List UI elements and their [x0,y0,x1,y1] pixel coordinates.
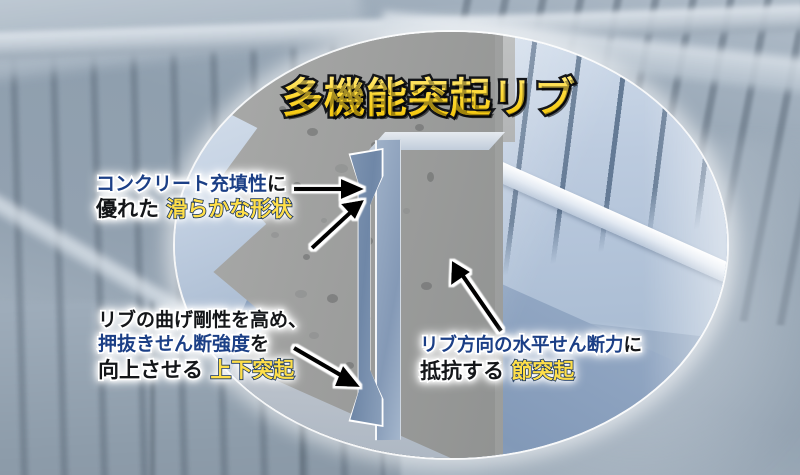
annotation-text-yellow: 上下突起 [210,358,294,382]
annotation-text-white: 抵抗する [420,359,511,383]
annotation-text-blue: 押抜きせん断強度 [98,333,250,355]
annotation-text-white: 優れた [96,197,166,221]
annotation-text-blue: リブ方向の水平せん断力 [420,335,624,356]
annotation-top-bottom-protrusion: リブの曲げ剛性を高め、 押抜きせん断強度を 向上させる 上下突起 [98,308,307,384]
annotation-text-yellow: 滑らかな形状 [166,197,292,221]
annotation-text-yellow: 節突起 [511,359,574,383]
annotation-line: リブ方向の水平せん断力に [420,334,642,358]
annotation-text-white: に [267,173,286,195]
annotation-text-blue: コンクリート充填性 [96,173,267,195]
rib-profile-shape [349,150,383,425]
annotation-line: 押抜きせん断強度を [98,332,307,356]
annotation-line: リブの曲げ剛性を高め、 [98,308,307,332]
rib-cross-section [349,150,383,425]
annotation-text-white: 向上させる [98,358,210,382]
annotation-line: コンクリート充填性に [96,172,292,196]
annotation-smooth-shape: コンクリート充填性に 優れた 滑らかな形状 [96,172,292,223]
annotation-node-protrusion: リブ方向の水平せん断力に 抵抗する 節突起 [420,334,642,385]
page-title-fill: 多機能突起リブ [282,64,576,124]
illustration-canvas: 多機能突起リブ 多機能突起リブ コンクリート充填性に 優れた 滑らかな形状 リブ… [0,0,800,475]
annotation-text-white: リブの曲げ剛性を高め、 [98,309,307,331]
annotation-line: 抵抗する 節突起 [420,358,642,385]
annotation-line: 優れた 滑らかな形状 [96,196,292,223]
annotation-text-white: を [250,333,269,355]
page-title: 多機能突起リブ 多機能突起リブ [282,64,576,124]
annotation-line: 向上させる 上下突起 [98,357,307,384]
annotation-text-white: に [624,335,643,356]
